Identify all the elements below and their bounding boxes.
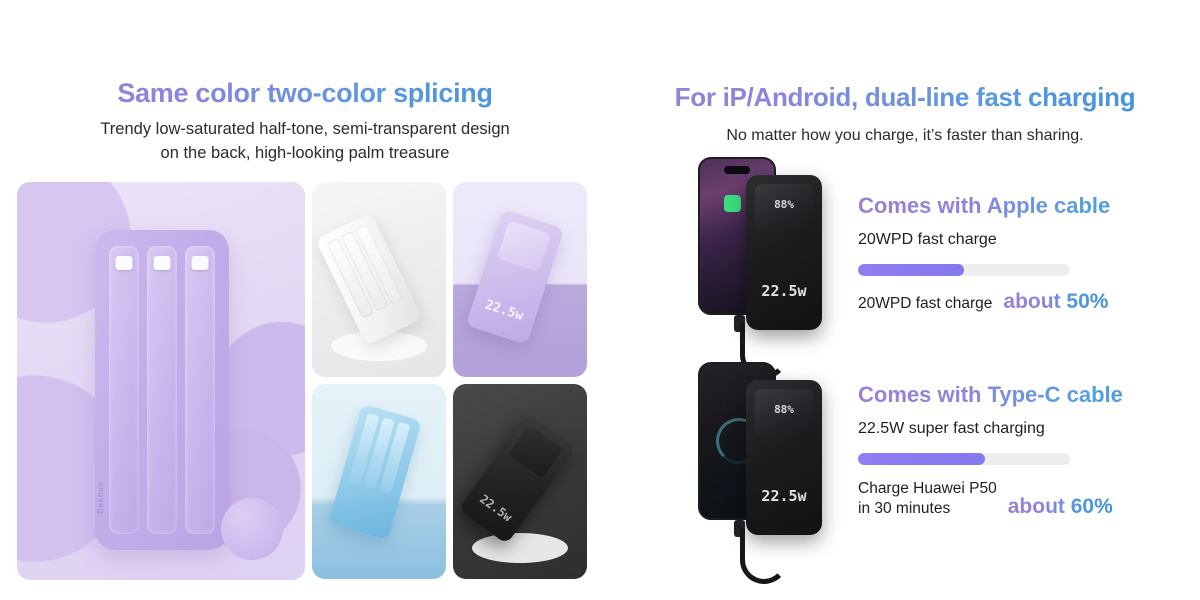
gallery-card-blue[interactable] [312,384,446,579]
feature-foot-label: Charge Huawei P50 in 30 minutes [858,479,997,519]
feature-title: Comes with Apple cable [858,193,1196,219]
gallery-card-white[interactable] [312,182,446,377]
blue-power-bank [328,404,422,540]
attached-cable [740,528,788,584]
feature-footer: Charge Huawei P50 in 30 minutes about 60… [858,479,1196,519]
phone-notch [724,166,750,174]
android-with-power-bank-image: 88% 22.5w [690,360,840,585]
hero-power-bank: Baseus [95,230,229,550]
display-screen [508,425,563,479]
bank-display-screen: 88% [755,389,813,437]
usb-c-plug-icon [116,256,133,270]
foot-label-line-1: 20WPD fast charge [858,295,992,312]
bank-wattage-label: 22.5w [746,487,822,505]
charge-progress-bar [858,453,1070,465]
gallery-card-lilac[interactable]: 22.5w [453,182,587,377]
wattage-label: 22.5w [467,485,524,532]
gallery-card-hero[interactable]: Baseus [17,182,305,580]
about-word: about [1008,495,1071,518]
charging-badge-icon [724,195,741,212]
black-power-bank-device: 88% 22.5w [746,380,822,535]
feature-typec-cable: 88% 22.5w Comes with Type-C cable 22.5W … [690,360,1196,585]
usb-c-plug-icon-2 [192,256,209,270]
left-panel: Same color two-color splicing Trendy low… [0,0,610,600]
bank-display-screen: 88% [755,184,813,232]
product-gallery: Baseus [17,182,590,580]
hero-cable-usbc-2 [185,246,215,534]
foot-label-line-2: in 30 minutes [858,500,950,517]
gallery-card-black[interactable]: 22.5w [453,384,587,579]
product-feature-page: Same color two-color splicing Trendy low… [0,0,1200,600]
gallery-row-top: 22.5w [312,182,587,377]
lightning-plug-icon [154,256,171,270]
left-headline: Same color two-color splicing [0,78,610,109]
feature-apple-cable: 88% 22.5w Comes with Apple cable 20WPD f… [690,155,1196,380]
left-subhead-line-2: on the back, high-looking palm treasure [161,144,450,162]
feature-subtitle: 22.5W super fast charging [858,420,1196,438]
percent-value: 60% [1071,495,1113,518]
gallery-row-bottom: 22.5w [312,384,587,579]
foot-label-line-1: Charge Huawei P50 [858,480,997,497]
decorative-sphere [221,498,283,560]
percent-value: 50% [1066,290,1108,313]
feature-foot-label: 20WPD fast charge [858,294,992,314]
feature-apple-text: Comes with Apple cable 20WPD fast charge… [858,155,1196,314]
feature-percent-callout: about 60% [1008,495,1113,519]
charge-progress-fill [858,264,964,276]
right-headline: For iP/Android, dual-line fast charging [610,82,1200,113]
black-power-bank: 22.5w [458,414,576,545]
white-power-bank [315,212,422,345]
right-subhead: No matter how you charge, it’s faster th… [610,124,1200,147]
charge-progress-fill [858,453,985,465]
gallery-card-column: 22.5w [312,182,587,580]
bank-wattage-label: 22.5w [746,282,822,300]
feature-subtitle: 20WPD fast charge [858,231,1196,249]
hero-cable-lightning [147,246,177,534]
product-stage [472,533,568,563]
hero-cable-usbc-1 [109,246,139,534]
brand-logo: Baseus [96,481,105,514]
iphone-with-power-bank-image: 88% 22.5w [690,155,840,380]
left-subhead: Trendy low-saturated half-tone, semi-tra… [0,118,610,166]
battery-percent-readout: 88% [755,198,813,211]
feature-title: Comes with Type-C cable [858,382,1196,408]
black-power-bank-device: 88% 22.5w [746,175,822,330]
feature-percent-callout: about 50% [1003,290,1108,314]
right-panel: For iP/Android, dual-line fast charging … [610,0,1200,600]
display-screen [497,220,551,272]
left-subhead-line-1: Trendy low-saturated half-tone, semi-tra… [100,120,509,138]
feature-typec-text: Comes with Type-C cable 22.5W super fast… [858,360,1196,519]
charge-progress-bar [858,264,1070,276]
feature-footer: 20WPD fast charge about 50% [858,290,1196,314]
about-word: about [1003,290,1066,313]
lilac-power-bank: 22.5w [466,209,565,345]
wattage-label: 22.5w [471,294,537,328]
battery-percent-readout: 88% [755,403,813,416]
